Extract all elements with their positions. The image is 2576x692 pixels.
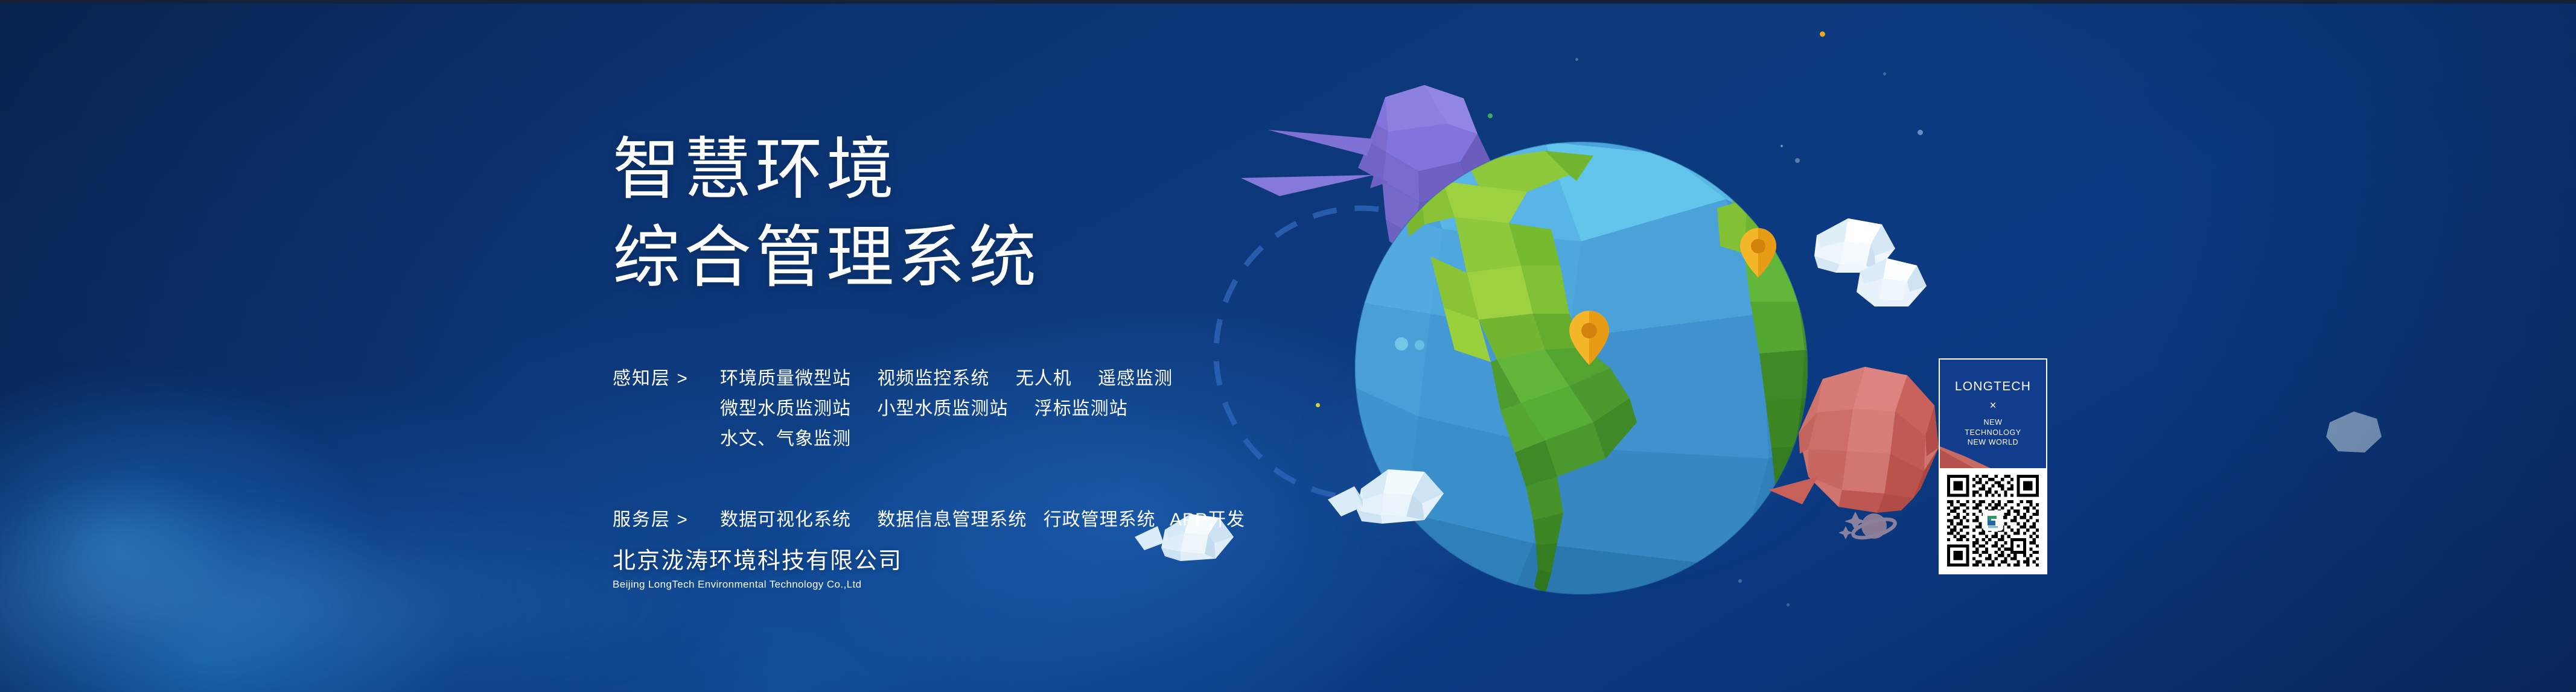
company-name-cn: 北京泷涛环境科技有限公司: [613, 548, 902, 575]
layer-list: 感知层 > 环境质量微型站 视频监控系统 无人机 遥感监测 微型水质监测站 小型…: [613, 364, 1337, 535]
qr-tagline-line-3: NEW WORLD: [1965, 437, 2021, 448]
layer-item-link[interactable]: 环境质量微型站: [720, 369, 851, 389]
layer-item-link[interactable]: 浮标监测站: [1035, 399, 1128, 419]
layer-item-link[interactable]: 视频监控系统: [877, 369, 989, 389]
qr-brand-name: LONGTECH: [1955, 380, 2031, 393]
page-title: 智慧环境 综合管理系统: [613, 125, 1337, 301]
item-line: 环境质量微型站 视频监控系统 无人机 遥感监测: [720, 364, 1337, 394]
qr-card[interactable]: LONGTECH × NEW TECHNOLOGY NEW WORLD: [1939, 358, 2047, 574]
layer-item-link[interactable]: 遥感监测: [1098, 369, 1173, 389]
layer-item-link[interactable]: 水文、气象监测: [720, 429, 851, 449]
company-name-en: Beijing LongTech Environmental Technolog…: [613, 577, 902, 592]
company-signature: 北京泷涛环境科技有限公司 Beijing LongTech Environmen…: [613, 548, 902, 592]
layer-label-service: 服务层 >: [613, 505, 720, 535]
qr-center-logo-icon: [1983, 510, 2003, 531]
headline-line-2: 综合管理系统: [613, 214, 1337, 302]
layer-item-link[interactable]: 微型水质监测站: [720, 399, 851, 419]
headline-line-1: 智慧环境: [613, 132, 897, 207]
qr-card-header: LONGTECH × NEW TECHNOLOGY NEW WORLD: [1940, 360, 2046, 468]
layer-item-link[interactable]: 行政管理系统: [1044, 510, 1156, 530]
layer-item-link[interactable]: 无人机: [1016, 369, 1072, 389]
layer-item-link[interactable]: APP开发: [1170, 510, 1245, 530]
qr-card-body: [1940, 468, 2046, 573]
layer-row-sensing: 感知层 > 环境质量微型站 视频监控系统 无人机 遥感监测 微型水质监测站 小型…: [613, 364, 1337, 454]
layer-row-service: 服务层 > 数据可视化系统 数据信息管理系统 行政管理系统 APP开发: [613, 505, 1337, 535]
banner-root: 智慧环境 综合管理系统 感知层 > 环境质量微型站 视频监控系统 无人机 遥感监…: [0, 0, 2576, 692]
layer-items-sensing: 环境质量微型站 视频监控系统 无人机 遥感监测 微型水质监测站 小型水质监测站 …: [720, 364, 1337, 454]
layer-label-sensing: 感知层 >: [613, 364, 720, 394]
layer-item-link[interactable]: 数据可视化系统: [720, 510, 851, 530]
layer-item-link[interactable]: 数据信息管理系统: [877, 510, 1027, 530]
qr-tagline-line-1: NEW: [1965, 417, 2021, 428]
layer-items-service: 数据可视化系统 数据信息管理系统 行政管理系统 APP开发: [720, 505, 1337, 535]
layer-item-link[interactable]: 小型水质监测站: [877, 399, 1008, 419]
qr-tagline: NEW TECHNOLOGY NEW WORLD: [1965, 417, 2021, 448]
qr-code-icon[interactable]: [1947, 475, 2039, 567]
qr-tagline-line-2: TECHNOLOGY: [1965, 428, 2021, 438]
item-line: 数据可视化系统 数据信息管理系统 行政管理系统 APP开发: [720, 505, 1337, 535]
multiply-icon: ×: [1989, 400, 1996, 411]
top-edge-strip: [0, 0, 2576, 4]
hero-copy: 智慧环境 综合管理系统 感知层 > 环境质量微型站 视频监控系统 无人机 遥感监…: [613, 125, 1337, 535]
item-line: 水文、气象监测: [720, 424, 1337, 454]
item-line: 微型水质监测站 小型水质监测站 浮标监测站: [720, 394, 1337, 424]
